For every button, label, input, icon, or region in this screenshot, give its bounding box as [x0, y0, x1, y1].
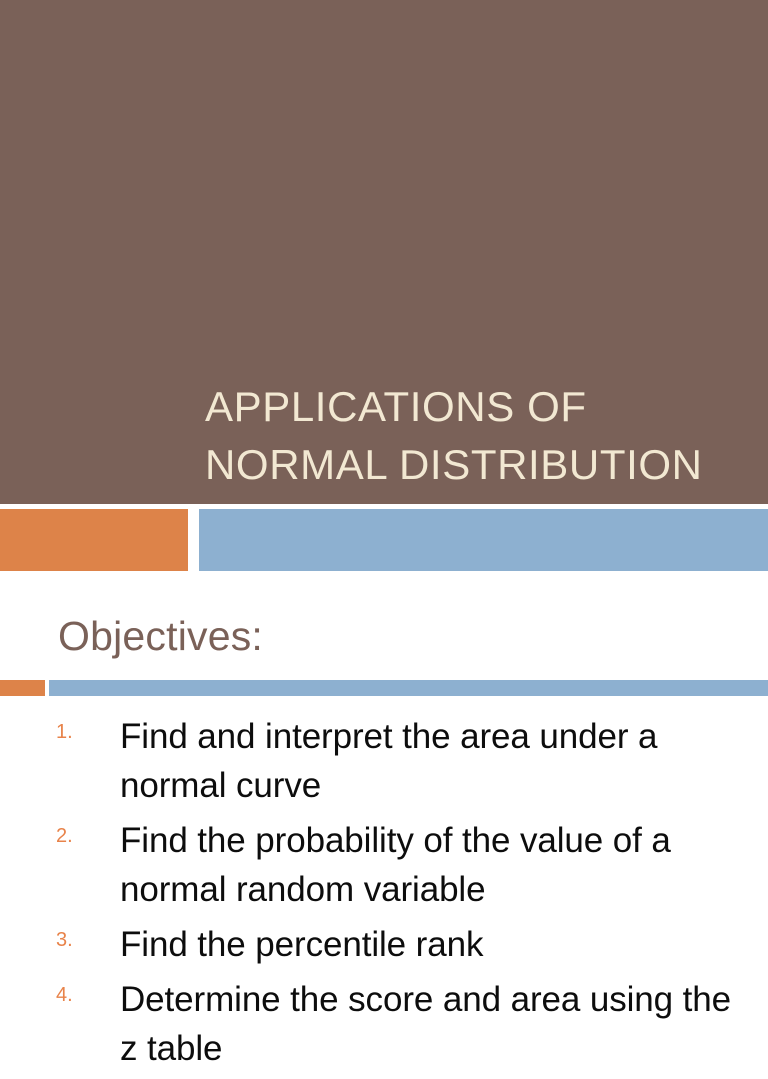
- list-item-number: 3.: [56, 928, 96, 952]
- list-item-text: Determine the score and area using the z…: [120, 975, 750, 1073]
- list-item: 2. Find the probability of the value of …: [0, 816, 768, 920]
- title-slide: APPLICATIONS OF NORMAL DISTRIBUTION: [0, 0, 768, 504]
- title-accent-bar-orange: [0, 509, 188, 571]
- objectives-heading: Objectives:: [58, 612, 263, 660]
- title-accent-bar-row: [0, 509, 768, 571]
- slide-title-line-2: NORMAL DISTRIBUTION: [205, 436, 745, 494]
- slide-title: APPLICATIONS OF NORMAL DISTRIBUTION: [205, 378, 745, 494]
- heading-rule-blue: [49, 680, 768, 696]
- list-item-number: 1.: [56, 720, 96, 744]
- list-item-text: Find and interpret the area under a norm…: [120, 712, 750, 810]
- list-item: 3. Find the percentile rank: [0, 920, 768, 975]
- list-item: 4. Determine the score and area using th…: [0, 975, 768, 1079]
- slide-deck: APPLICATIONS OF NORMAL DISTRIBUTION Obje…: [0, 0, 768, 1024]
- heading-rule: [0, 680, 768, 696]
- list-item-number: 4.: [56, 983, 96, 1007]
- heading-rule-orange: [0, 680, 45, 696]
- list-item-text: Find the probability of the value of a n…: [120, 816, 750, 914]
- slide-title-line-1: APPLICATIONS OF: [205, 378, 745, 436]
- title-accent-bar-blue: [199, 509, 768, 571]
- list-item-text: Find the percentile rank: [120, 920, 750, 969]
- list-item: 1. Find and interpret the area under a n…: [0, 712, 768, 816]
- list-item-number: 2.: [56, 824, 96, 848]
